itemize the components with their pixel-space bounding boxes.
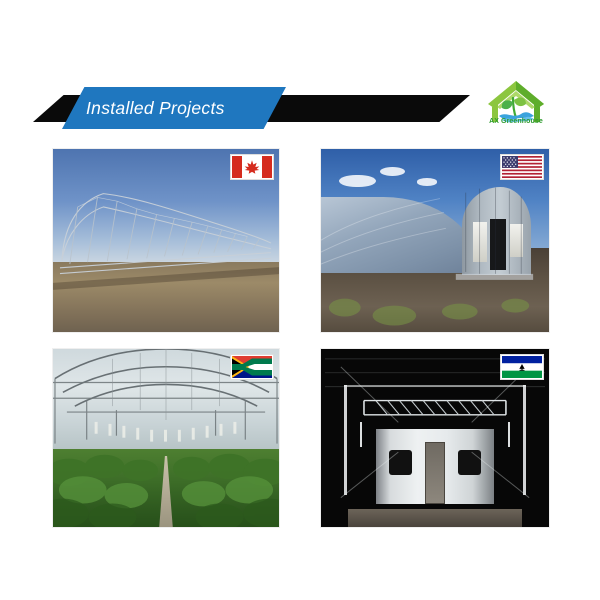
project-card-lesotho[interactable] — [320, 348, 550, 528]
project-gallery — [0, 0, 600, 600]
project-card-south-africa[interactable] — [52, 348, 280, 528]
project-card-canada[interactable] — [52, 148, 280, 333]
flag-lesotho-icon — [500, 354, 544, 380]
flag-canada-icon — [230, 154, 274, 180]
flag-south-africa-icon — [230, 354, 274, 380]
slide-canvas: Installed Projects AX Greenhouse — [0, 0, 600, 600]
flag-usa-icon — [500, 154, 544, 180]
project-card-usa[interactable] — [320, 148, 550, 333]
